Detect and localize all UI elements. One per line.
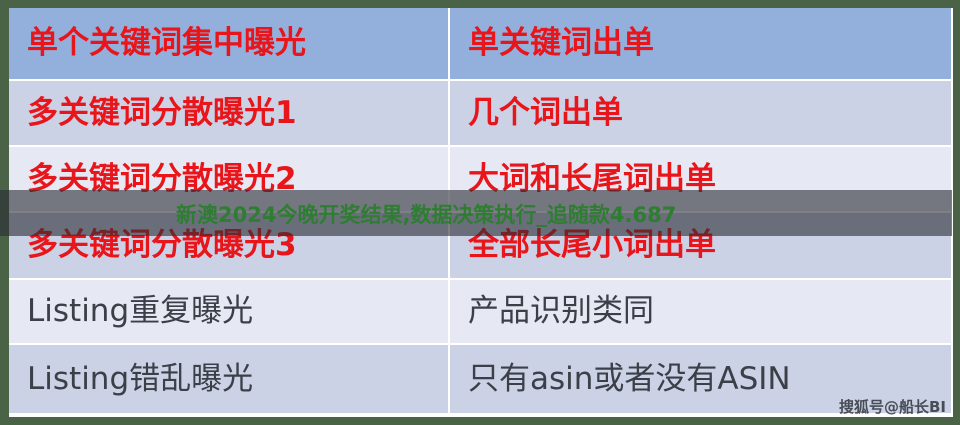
cell-text: 只有asin或者没有ASIN [468, 364, 791, 395]
screenshot-canvas: 单个关键词集中曝光 单关键词出单 多关键词分散曝光1 几个词出单 多关键词分散曝… [0, 0, 960, 425]
table-cell-left: Listing重复曝光 [9, 280, 450, 343]
table-row: 多关键词分散曝光2 大词和长尾词出单 [9, 147, 953, 213]
table-row: 多关键词分散曝光1 几个词出单 [9, 81, 953, 147]
cell-text: 多关键词分散曝光1 [27, 98, 297, 129]
table-row: Listing错乱曝光 只有asin或者没有ASIN [9, 345, 953, 413]
cell-text: Listing错乱曝光 [27, 364, 253, 395]
table-cell-left: Listing错乱曝光 [9, 345, 450, 413]
cell-text: 几个词出单 [468, 98, 623, 129]
cell-text: 单关键词出单 [468, 28, 654, 59]
cell-text: 全部长尾小词出单 [468, 230, 716, 261]
sohu-watermark: 搜狐号@船长BI [839, 396, 946, 417]
table-cell-left: 单个关键词集中曝光 [9, 8, 450, 79]
table-cell-right: 几个词出单 [450, 81, 951, 145]
table-cell-left: 多关键词分散曝光2 [9, 147, 450, 211]
table-cell-right: 单关键词出单 [450, 8, 951, 79]
cell-text: 单个关键词集中曝光 [27, 28, 306, 59]
table-row: 多关键词分散曝光3 全部长尾小词出单 [9, 213, 953, 280]
cell-text: Listing重复曝光 [27, 296, 253, 327]
comparison-table: 单个关键词集中曝光 单关键词出单 多关键词分散曝光1 几个词出单 多关键词分散曝… [9, 8, 953, 417]
table-row: Listing重复曝光 产品识别类同 [9, 280, 953, 345]
table-cell-left: 多关键词分散曝光3 [9, 213, 450, 278]
cell-text: 多关键词分散曝光3 [27, 230, 297, 261]
cell-text: 产品识别类同 [468, 296, 654, 327]
cell-text: 大词和长尾词出单 [468, 164, 716, 195]
table-cell-right: 大词和长尾词出单 [450, 147, 951, 211]
cell-text: 多关键词分散曝光2 [27, 164, 297, 195]
table-cell-right: 全部长尾小词出单 [450, 213, 951, 278]
table-row: 单个关键词集中曝光 单关键词出单 [9, 8, 953, 81]
table-cell-right: 产品识别类同 [450, 280, 951, 343]
table-cell-left: 多关键词分散曝光1 [9, 81, 450, 145]
